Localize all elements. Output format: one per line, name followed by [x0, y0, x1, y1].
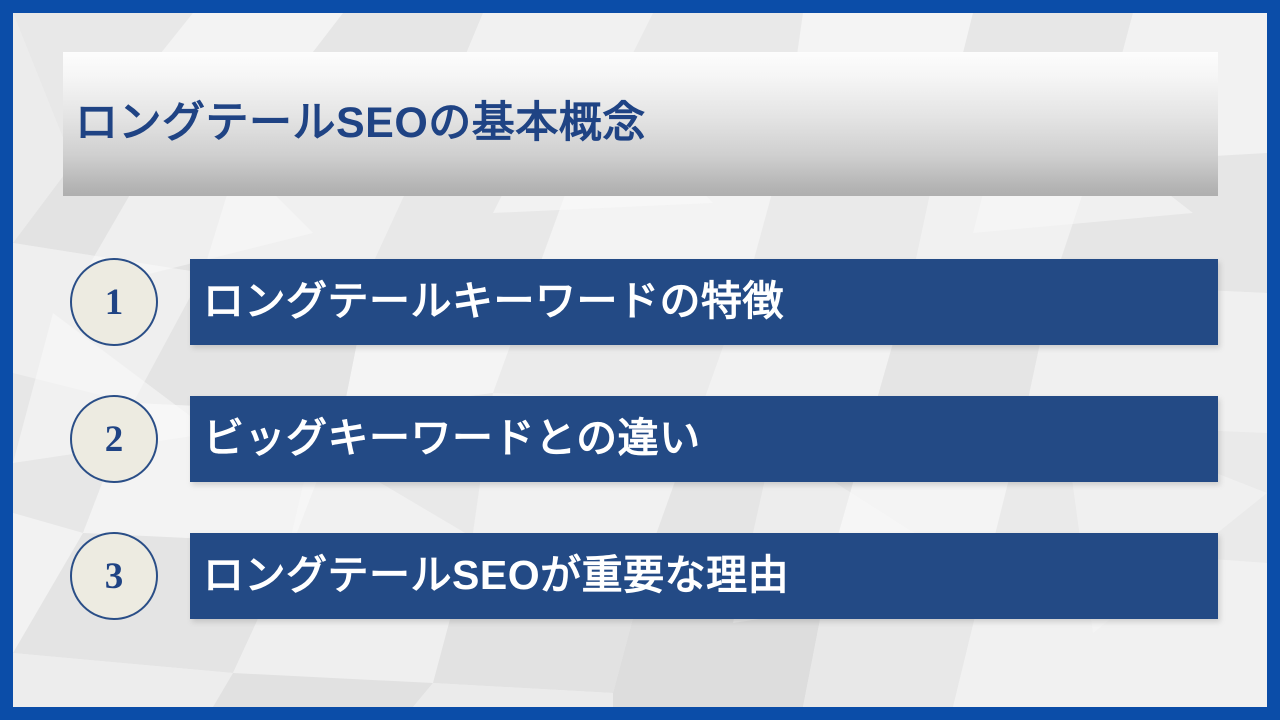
list-item[interactable]: 2 ビッグキーワードとの違い	[0, 395, 1280, 487]
agenda-bar[interactable]: ロングテールキーワードの特徴	[190, 259, 1218, 345]
agenda-bar[interactable]: ロングテールSEOが重要な理由	[190, 533, 1218, 619]
number-badge: 2	[70, 395, 158, 483]
list-item[interactable]: 1 ロングテールキーワードの特徴	[0, 258, 1280, 350]
badge-number-label: 3	[105, 558, 124, 595]
badge-number-label: 1	[105, 284, 124, 321]
agenda-list: 1 ロングテールキーワードの特徴 2 ビッグキーワードとの違い 3 ロングテール…	[0, 0, 1280, 720]
agenda-item-label: ロングテールキーワードの特徴	[203, 279, 784, 324]
agenda-item-label: ビッグキーワードとの違い	[203, 416, 701, 461]
frame-border-right	[1267, 0, 1280, 720]
frame-border-left	[0, 0, 13, 720]
frame-border-top	[0, 0, 1280, 13]
frame-border-bottom	[0, 707, 1280, 720]
slide-canvas: ロングテールSEOの基本概念 1 ロングテールキーワードの特徴 2 ビッグキーワ…	[0, 0, 1280, 720]
agenda-bar[interactable]: ビッグキーワードとの違い	[190, 396, 1218, 482]
list-item[interactable]: 3 ロングテールSEOが重要な理由	[0, 532, 1280, 624]
number-badge: 1	[70, 258, 158, 346]
number-badge: 3	[70, 532, 158, 620]
agenda-item-label: ロングテールSEOが重要な理由	[203, 553, 789, 598]
badge-number-label: 2	[105, 421, 124, 458]
